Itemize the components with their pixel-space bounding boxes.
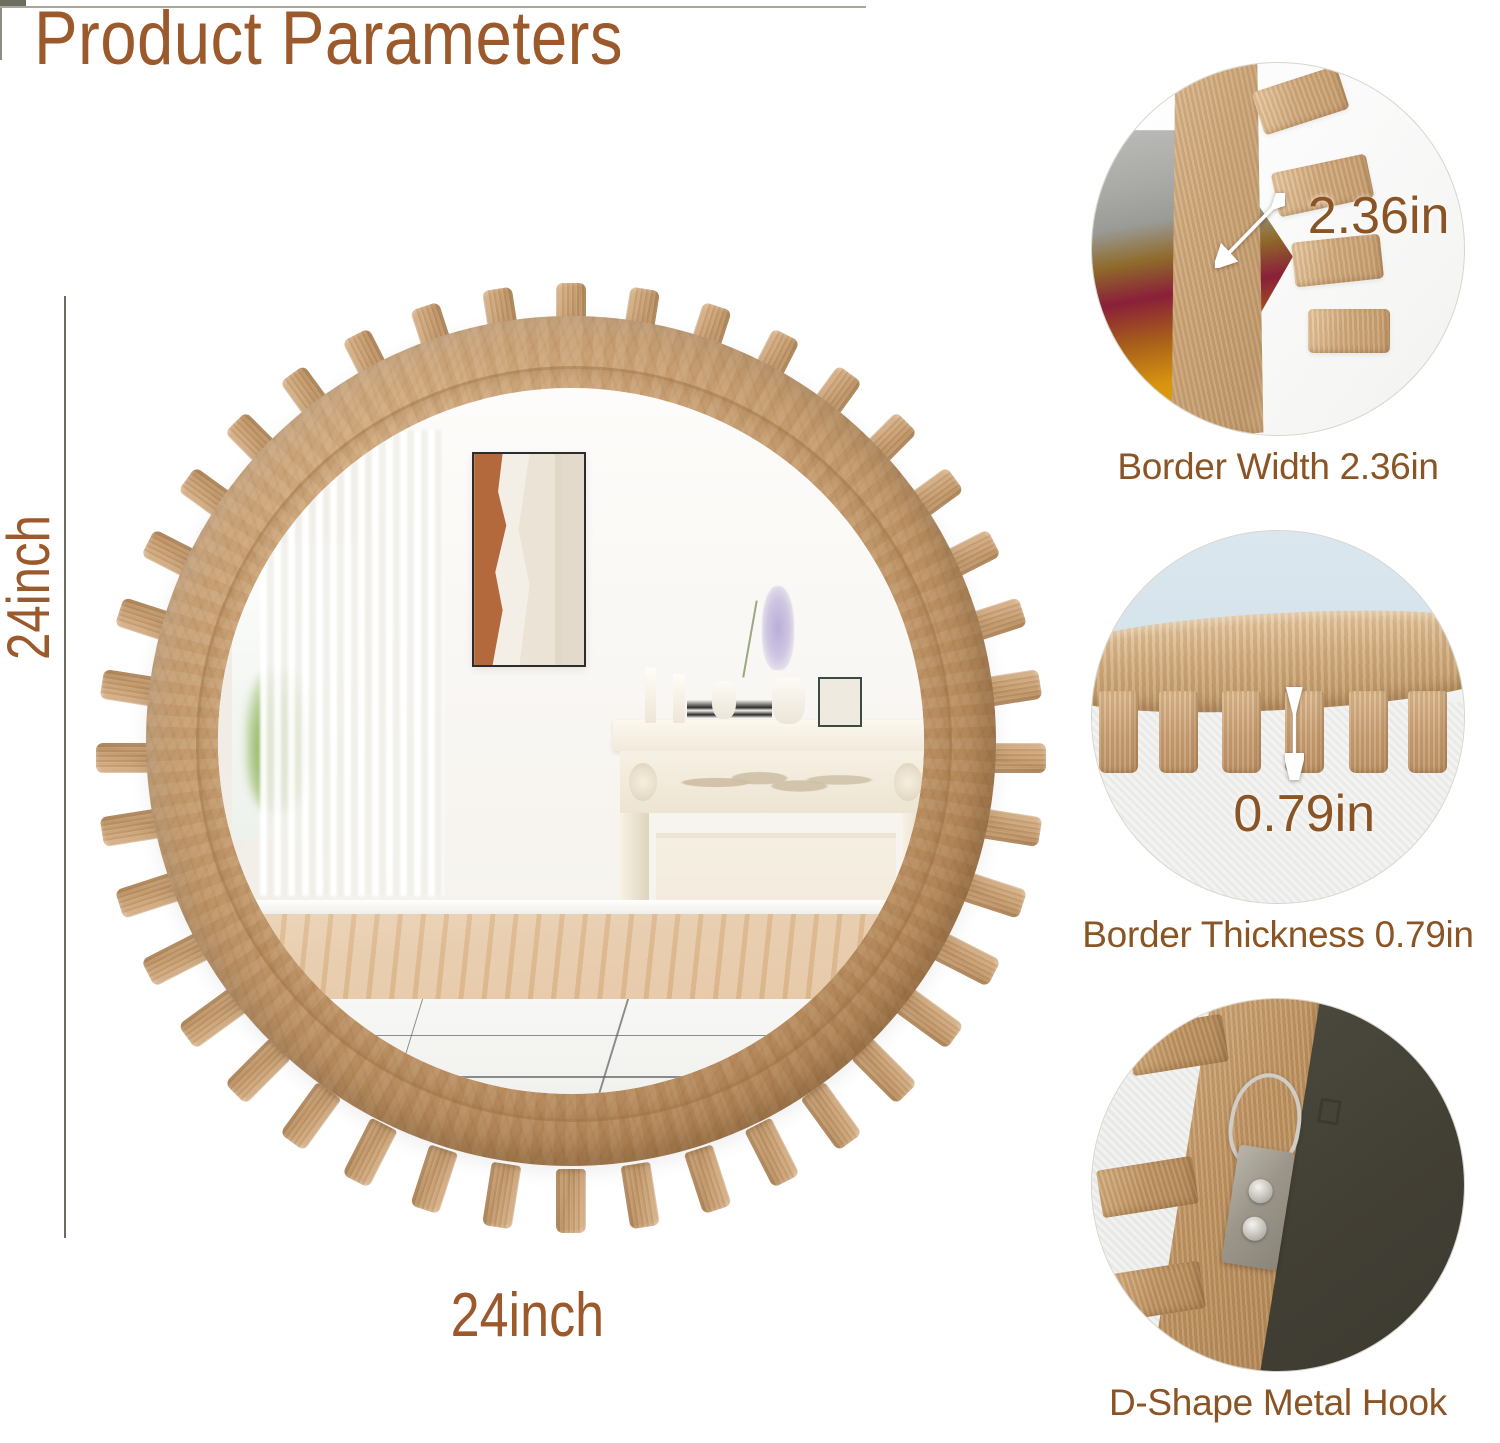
horizontal-dimension-label: 24inch <box>0 1280 1055 1351</box>
tile-grout-line <box>791 999 835 1094</box>
mantel-rosette-left <box>629 763 657 800</box>
tile-grout-line <box>218 1076 924 1078</box>
mirror-glass <box>218 388 924 1094</box>
mantel-rosette-right <box>894 763 922 800</box>
callout-border-width: 2.36in Border Width 2.36in <box>1078 62 1478 488</box>
gear-tooth <box>556 1169 586 1233</box>
product-photo-mirror <box>92 262 1050 1220</box>
screw-icon <box>1246 1177 1274 1204</box>
reflected-small-vase <box>712 681 736 719</box>
border-thickness-overlay-label: 0.79in <box>1233 784 1375 844</box>
border-width-overlay-label: 2.36in <box>1308 186 1450 246</box>
callout-d-shape-metal-hook: D-Shape Metal Hook <box>1078 998 1478 1424</box>
dimension-arrow-icon <box>1215 193 1286 267</box>
gear-tooth <box>1222 691 1261 773</box>
tile-grout-line <box>585 999 629 1094</box>
screw-icon <box>1240 1215 1268 1242</box>
gear-tooth <box>1251 65 1350 135</box>
callout-hook-photo <box>1091 998 1465 1372</box>
callout-border-width-photo: 2.36in <box>1091 62 1465 436</box>
callout-border-width-caption: Border Width 2.36in <box>1078 446 1478 488</box>
product-dimension-panel: 24inch 24inch <box>0 0 1055 1443</box>
metal-clip-icon <box>1317 1098 1341 1126</box>
gear-tooth <box>342 1117 398 1188</box>
horizontal-dimension-label-text: 24inch <box>451 1280 604 1351</box>
mantel-frieze <box>620 751 924 813</box>
mantel-scroll-ornament <box>676 761 876 804</box>
reflected-white-vase <box>772 677 804 724</box>
artwork-shape-terracotta <box>474 454 520 666</box>
gear-tooth <box>1099 691 1138 773</box>
reflected-candlestick-right <box>673 674 684 723</box>
mantel-shelf <box>613 720 924 751</box>
reflected-lavender-sprig <box>762 586 794 671</box>
horizontal-dimension-cap-right <box>0 34 2 60</box>
vertical-dimension-label: 24inch <box>0 515 63 660</box>
horizontal-dimension-line <box>0 6 866 8</box>
gear-tooth <box>684 1144 732 1214</box>
reflected-framed-artwork <box>472 452 585 668</box>
reflected-photo-frame <box>818 677 862 726</box>
horizontal-dimension-cap-left <box>0 8 2 34</box>
gear-tooth <box>620 1162 660 1230</box>
tile-grout-line <box>380 999 424 1094</box>
callout-border-thickness-caption: Border Thickness 0.79in <box>1078 914 1478 956</box>
gear-tooth <box>744 1117 800 1188</box>
gear-tooth <box>1308 309 1390 354</box>
callout-border-thickness-photo: 0.79in <box>1091 530 1465 904</box>
gear-tooth <box>410 1144 458 1214</box>
artwork-shape-beige <box>555 454 583 666</box>
mirror-reflection-scene <box>218 388 924 1094</box>
gear-tooth <box>1349 691 1388 773</box>
callout-border-thickness: 0.79in Border Thickness 0.79in <box>1078 530 1478 956</box>
reflected-curtain <box>260 430 444 896</box>
gear-tooth <box>482 1162 522 1230</box>
reflected-candlestick-left <box>645 667 656 723</box>
tile-grout-line <box>220 1034 924 1036</box>
vertical-dimension-line <box>64 296 66 1238</box>
gear-tooth <box>1159 691 1198 773</box>
dimension-arrow-icon <box>1285 687 1304 780</box>
gear-tooth <box>1408 691 1447 773</box>
reflected-tile-floor <box>218 999 924 1094</box>
callout-hook-caption: D-Shape Metal Hook <box>1078 1382 1478 1424</box>
